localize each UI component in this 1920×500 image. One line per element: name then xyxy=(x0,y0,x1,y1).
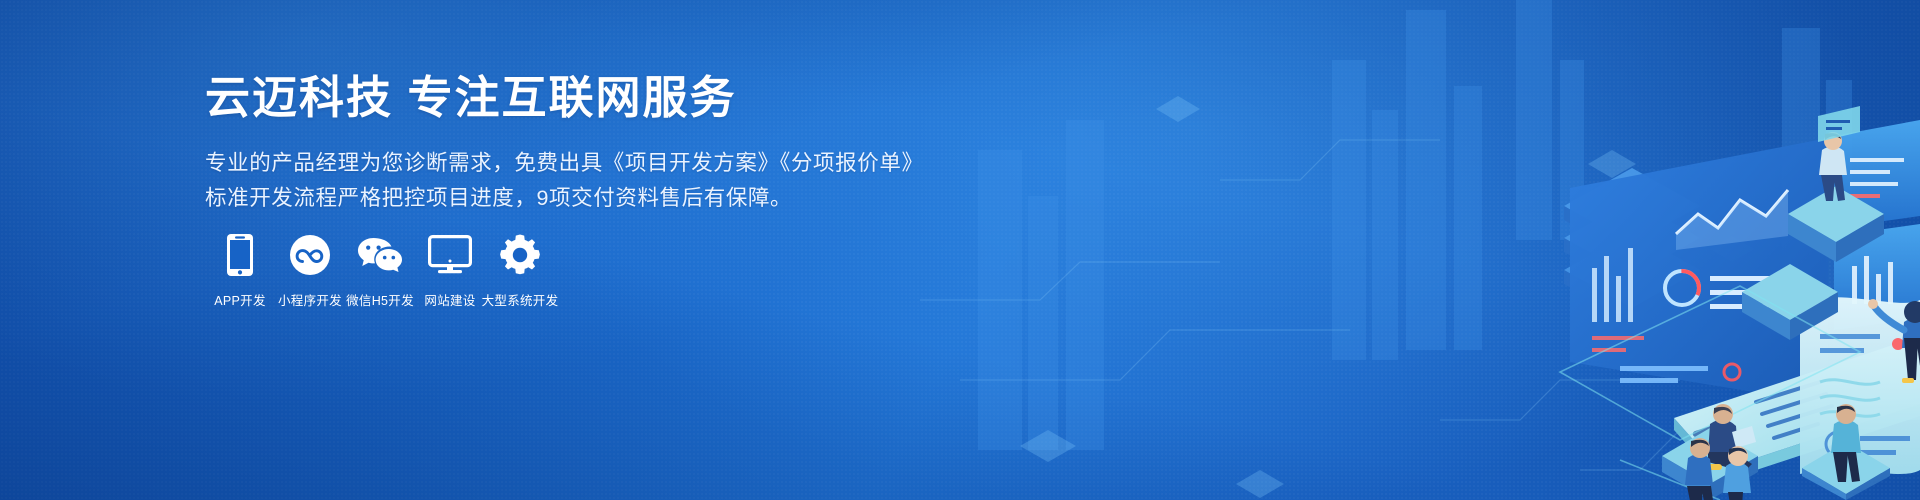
service-item-app[interactable]: APP开发 xyxy=(205,232,275,309)
pedestal-upper xyxy=(1788,186,1884,262)
figure-pair-left xyxy=(1685,426,1751,500)
service-item-website[interactable]: 网站建设 xyxy=(415,232,485,309)
mini-program-icon xyxy=(289,232,331,278)
subtitle-line-1: 专业的产品经理为您诊断需求，免费出具《项目开发方案》《分项报价单》 xyxy=(205,146,905,181)
wechat-icon xyxy=(356,232,404,278)
service-item-wechat-h5[interactable]: 微信H5开发 xyxy=(345,232,415,309)
banner-subtitle: 专业的产品经理为您诊断需求，免费出具《项目开发方案》《分项报价单》 标准开发流程… xyxy=(205,146,905,216)
small-screen-floating xyxy=(1818,106,1860,142)
subtitle-line-2: 标准开发流程严格把控项目进度，9项交付资料售后有保障。 xyxy=(205,181,905,216)
service-label: 网站建设 xyxy=(424,290,475,309)
figure-upper-pedestal xyxy=(1819,132,1847,201)
service-item-large-system[interactable]: 大型系统开发 xyxy=(485,232,555,309)
ground-outline xyxy=(1560,286,1860,500)
figure-presenter xyxy=(1868,299,1920,383)
hero-illustration xyxy=(920,0,1920,500)
pedestal-mid xyxy=(1742,264,1838,340)
banner-text-block: 云迈科技 专注互联网服务 专业的产品经理为您诊断需求，免费出具《项目开发方案》《… xyxy=(205,70,905,216)
pedestal-bottom-left xyxy=(1662,428,1758,500)
service-list: APP开发 小程序开发 微信 xyxy=(205,232,555,309)
pedestal-bottom-right xyxy=(1802,442,1890,500)
floating-diamonds xyxy=(1020,96,1754,498)
monitor-icon xyxy=(428,232,472,278)
service-label: 微信H5开发 xyxy=(346,290,414,309)
gear-icon xyxy=(499,232,541,278)
service-label: 大型系统开发 xyxy=(482,290,559,309)
service-item-miniprogram[interactable]: 小程序开发 xyxy=(275,232,345,309)
service-label: APP开发 xyxy=(214,290,266,309)
page-title: 云迈科技 专注互联网服务 xyxy=(205,70,905,126)
figure-laptop-sitting xyxy=(1706,404,1756,474)
hero-banner: 云迈科技 专注互联网服务 专业的产品经理为您诊断需求，免费出具《项目开发方案》《… xyxy=(0,0,1920,500)
platform-disc xyxy=(1834,360,1920,420)
background-buildings xyxy=(978,0,1852,450)
mobile-phone-icon xyxy=(225,232,255,278)
circuit-lines xyxy=(920,140,1800,470)
step-pedestals xyxy=(1742,152,1920,340)
figure-right-standing xyxy=(1831,404,1861,482)
server-stack xyxy=(1564,168,1700,322)
service-label: 小程序开发 xyxy=(278,290,342,309)
giant-smartphone xyxy=(1674,336,1920,482)
dashboard-panels xyxy=(1570,120,1920,404)
data-card-curved xyxy=(1800,297,1920,474)
